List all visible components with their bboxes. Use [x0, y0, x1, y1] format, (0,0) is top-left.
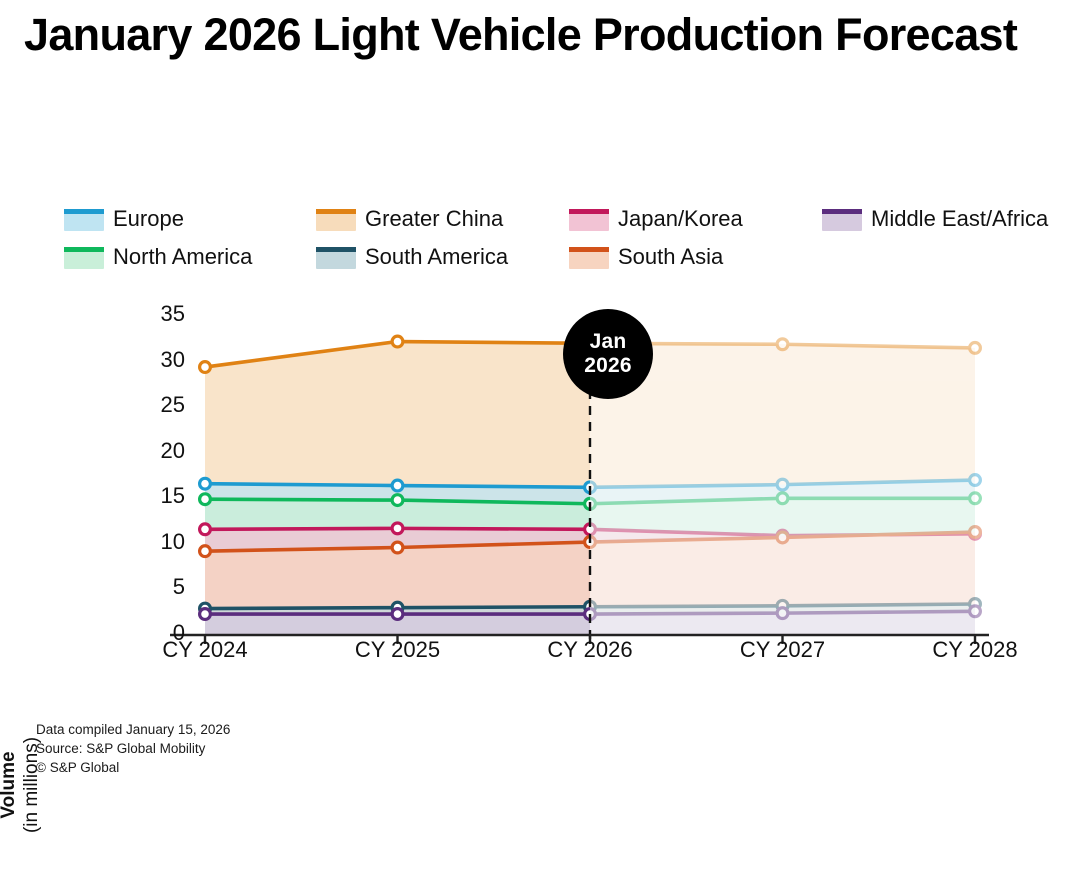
legend-swatch-icon [569, 209, 609, 231]
y-axis-title-sub: (in millions) [20, 690, 43, 880]
x-tick-label: CY 2025 [318, 637, 478, 663]
legend-swatch-icon [569, 247, 609, 269]
legend-swatch-icon [64, 209, 104, 231]
legend-swatch-icon [822, 209, 862, 231]
legend-label: North America [113, 243, 252, 270]
legend-item[interactable]: North America [64, 243, 316, 270]
x-tick-label: CY 2026 [510, 637, 670, 663]
footer-source: Source: S&P Global Mobility [36, 739, 230, 758]
legend-item[interactable]: Greater China [316, 205, 569, 232]
legend-label: Japan/Korea [618, 205, 743, 232]
y-tick-label: 30 [125, 347, 185, 373]
legend-item[interactable]: South America [316, 243, 569, 270]
legend-swatch-icon [316, 209, 356, 231]
legend-item[interactable]: Europe [64, 205, 316, 232]
legend-label: Europe [113, 205, 184, 232]
legend-label: South Asia [618, 243, 723, 270]
chart-plot-area: Volume (in millions) Jan 2026 3530252015… [0, 290, 1084, 680]
legend-item[interactable]: Japan/Korea [569, 205, 822, 232]
legend-swatch-icon [64, 247, 104, 269]
jan-2026-annotation-badge: Jan 2026 [563, 309, 653, 399]
badge-line-1: Jan [590, 330, 627, 354]
legend-swatch-icon [316, 247, 356, 269]
page-title: January 2026 Light Vehicle Production Fo… [24, 10, 1064, 60]
y-tick-label: 25 [125, 392, 185, 418]
y-tick-label: 35 [125, 301, 185, 327]
footer-copyright: © S&P Global [36, 758, 230, 777]
y-tick-label: 20 [125, 438, 185, 464]
y-axis-title: Volume (in millions) [0, 690, 43, 880]
legend-item[interactable]: Middle East/Africa [822, 205, 1078, 232]
legend-item[interactable]: South Asia [569, 243, 822, 270]
x-tick-label: CY 2027 [703, 637, 863, 663]
y-tick-label: 5 [125, 574, 185, 600]
y-axis-title-main: Volume [0, 690, 20, 880]
chart-page: January 2026 Light Vehicle Production Fo… [0, 0, 1084, 798]
x-tick-label: CY 2024 [125, 637, 285, 663]
y-tick-label: 10 [125, 529, 185, 555]
chart-footer: Data compiled January 15, 2026 Source: S… [36, 720, 230, 777]
y-tick-label: 15 [125, 483, 185, 509]
footer-data-compiled: Data compiled January 15, 2026 [36, 720, 230, 739]
legend-label: Middle East/Africa [871, 205, 1048, 232]
legend-label: South America [365, 243, 508, 270]
chart-legend: EuropeGreater ChinaJapan/KoreaMiddle Eas… [64, 205, 1078, 281]
x-tick-label: CY 2028 [895, 637, 1055, 663]
badge-line-2: 2026 [584, 354, 632, 378]
legend-label: Greater China [365, 205, 503, 232]
